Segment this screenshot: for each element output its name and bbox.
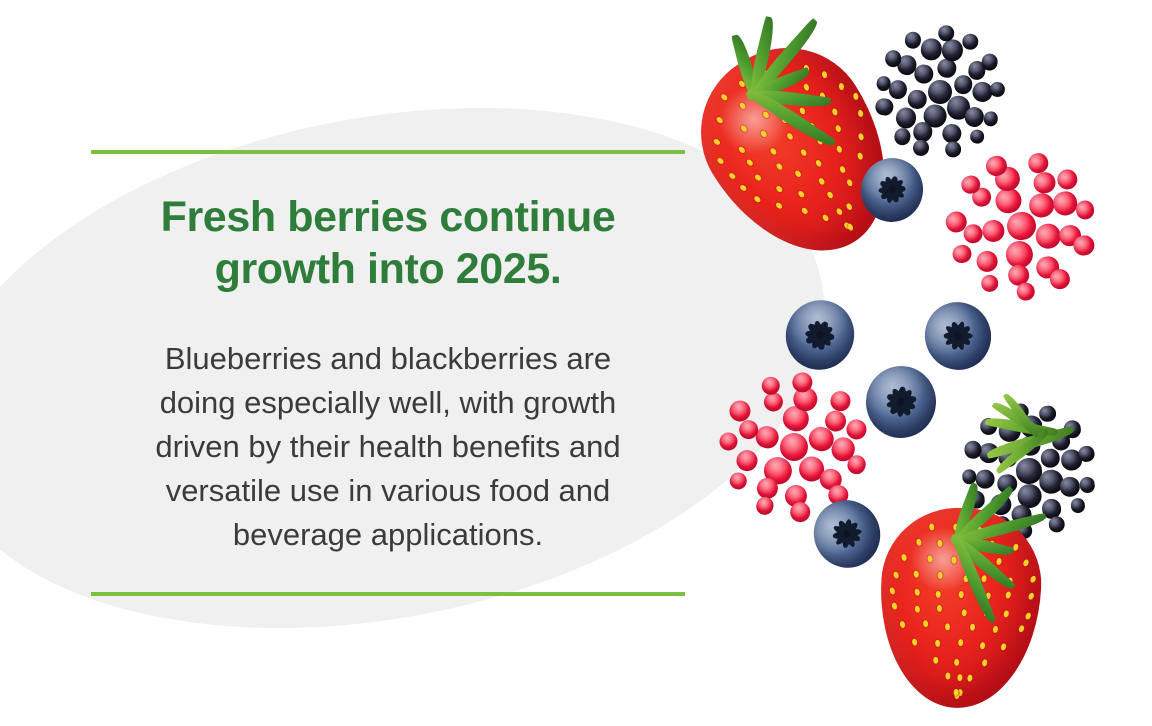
raspberry-right-icon (937, 142, 1106, 311)
headline-line-2: growth into 2025. (215, 245, 562, 293)
blackberry-stem-leaves (910, 385, 1044, 490)
body-line-5: beverage applications. (233, 517, 543, 552)
blueberry-calyx-center (897, 398, 905, 406)
body-line-2: doing especially well, with growth (160, 385, 617, 420)
body-line-1: Blueberries and blackberries are (165, 341, 611, 376)
strawberry-leaf (891, 492, 1036, 579)
poster-canvas: Fresh berries continue growth into 2025.… (0, 0, 1152, 726)
strawberry-bottom-icon (875, 504, 1045, 712)
page-title: Fresh berries continue growth into 2025. (91, 191, 685, 295)
raspberry-drupelets (937, 142, 1106, 311)
blackberry-drupelets (869, 19, 1012, 165)
divider-line-bottom-wrap (91, 592, 685, 596)
text-block: Fresh berries continue growth into 2025.… (91, 150, 685, 557)
body-paragraph: Blueberries and blackberries are doing e… (91, 337, 685, 557)
blackberry-top-right-icon (869, 19, 1012, 165)
body-line-4: versatile use in various food and (166, 473, 611, 508)
headline-line-1: Fresh berries continue (161, 193, 616, 241)
divider-line-bottom (91, 592, 685, 596)
body-line-3: driven by their health benefits and (155, 429, 620, 464)
blueberry-mid-right-icon (916, 293, 1000, 378)
divider-line-top (91, 150, 685, 154)
